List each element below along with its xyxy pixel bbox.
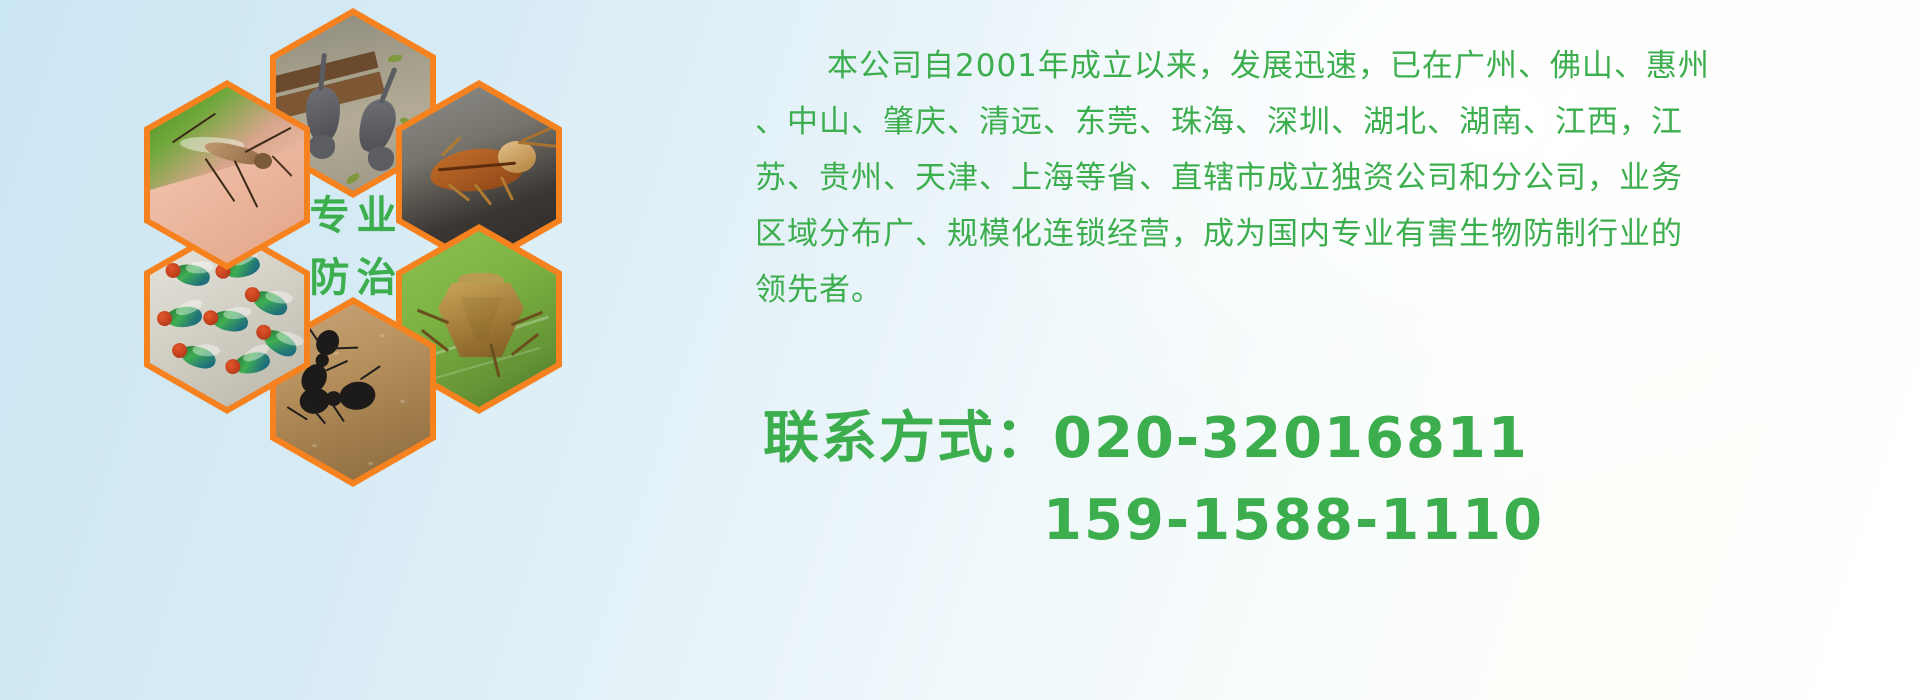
intro-line-5: 领先者。 (755, 262, 1905, 318)
promo-banner: 专业 防治 本公司自2001年成立以来，发展迅速，已在广州、佛山、惠州 、中山、… (0, 0, 1920, 700)
slogan-line-1: 专业 (303, 185, 404, 247)
honeycomb-image-cluster: 专业 防治 (118, 8, 588, 553)
intro-line-2: 、中山、肇庆、清远、东莞、珠海、深圳、湖北、湖南、江西，江 (755, 94, 1905, 150)
contact-primary-phone[interactable]: 联系方式：020-32016811 (763, 398, 1544, 480)
intro-line-4: 区域分布广、规模化连锁经营，成为国内专业有害生物防制行业的 (755, 206, 1905, 262)
company-intro-paragraph: 本公司自2001年成立以来，发展迅速，已在广州、佛山、惠州 、中山、肇庆、清远、… (755, 38, 1905, 318)
intro-line-1: 本公司自2001年成立以来，发展迅速，已在广州、佛山、惠州 (755, 38, 1905, 94)
slogan-line-2: 防治 (303, 247, 404, 309)
contact-block: 联系方式：020-32016811 159-1588-1110 (763, 398, 1544, 562)
banner-content: 本公司自2001年成立以来，发展迅速，已在广州、佛山、惠州 、中山、肇庆、清远、… (745, 0, 1905, 700)
intro-line-3: 苏、贵州、天津、上海等省、直辖市成立独资公司和分公司，业务 (755, 150, 1905, 206)
contact-secondary-phone[interactable]: 159-1588-1110 (763, 480, 1544, 562)
